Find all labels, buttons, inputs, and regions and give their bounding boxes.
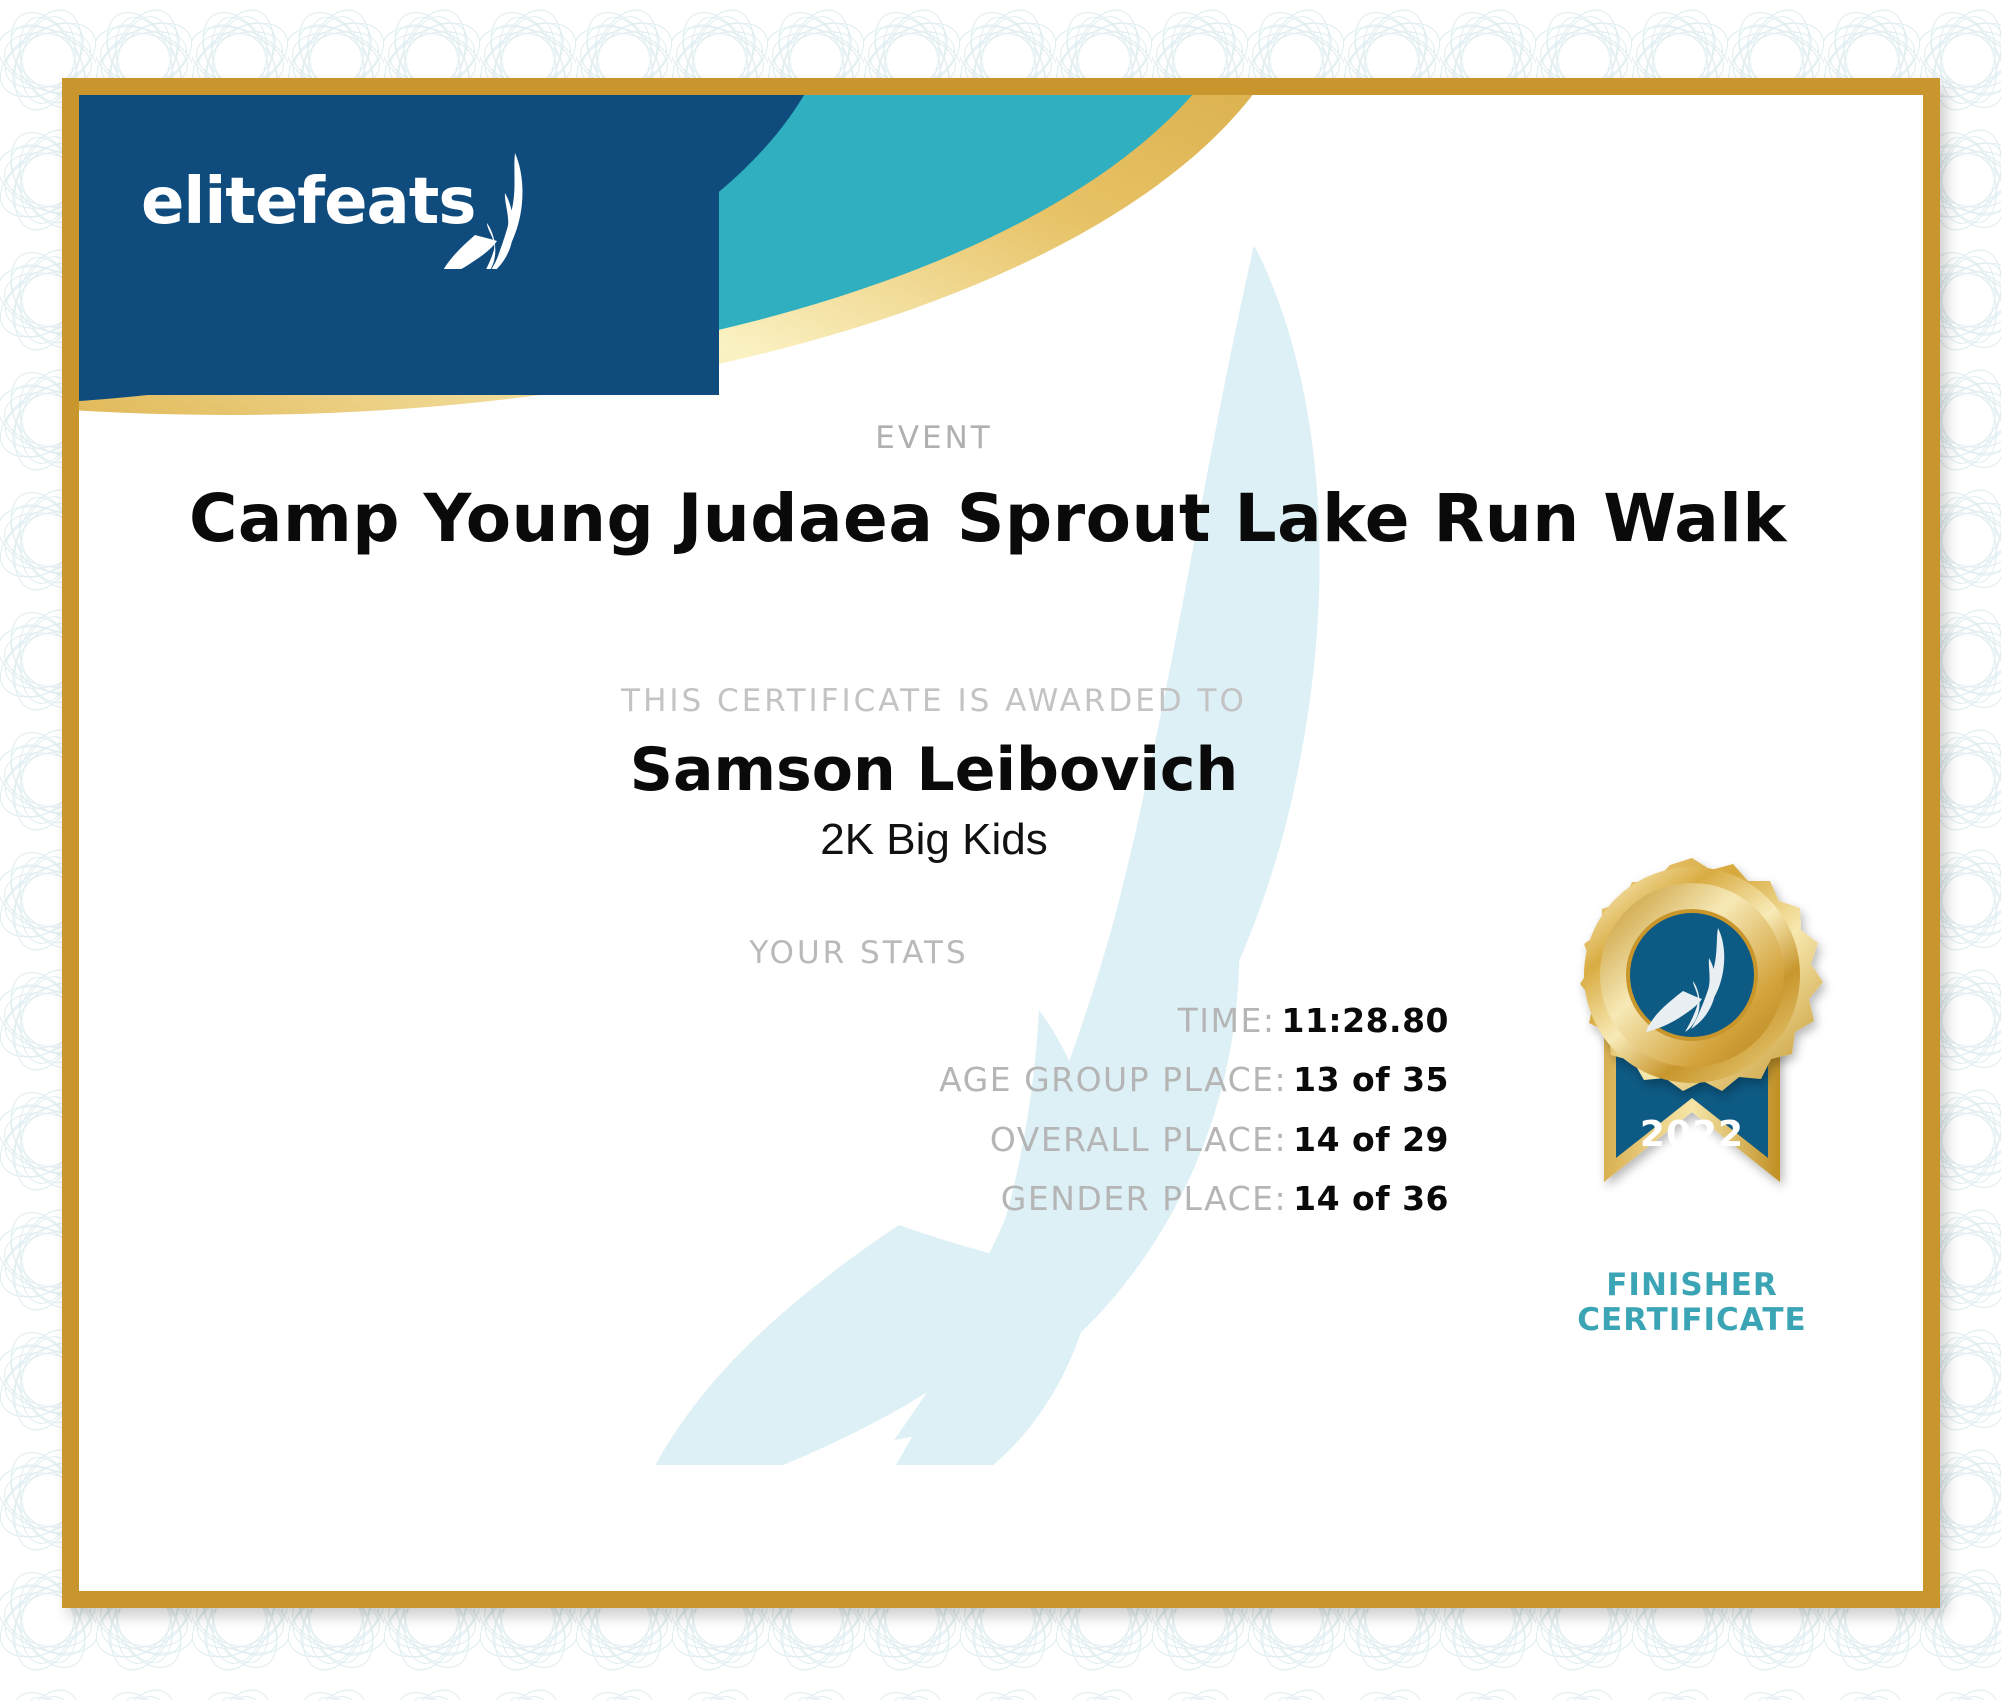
- badge-caption-line1: FINISHER: [1532, 1268, 1852, 1303]
- stat-label: OVERALL PLACE:: [990, 1120, 1287, 1159]
- event-label: EVENT: [209, 420, 1659, 456]
- medal-ribbon-icon: 2022: [1542, 850, 1842, 1290]
- stat-row-overall-place: OVERALL PLACE:14 of 29: [339, 1119, 1449, 1160]
- badge-year: 2022: [1640, 1114, 1744, 1155]
- event-title: Camp Young Judaea Sprout Lake Run Walk: [189, 480, 1679, 557]
- stat-row-gender-place: GENDER PLACE:14 of 36: [339, 1178, 1449, 1219]
- stats-heading: YOUR STATS: [209, 935, 1509, 971]
- badge-caption: FINISHER CERTIFICATE: [1532, 1268, 1852, 1337]
- stat-value: 13 of 35: [1293, 1060, 1449, 1099]
- stat-value: 14 of 36: [1293, 1179, 1449, 1218]
- brand-wordmark: elitefeats: [141, 165, 475, 239]
- stat-label: TIME:: [1178, 1001, 1276, 1040]
- certificate-frame: elitefeats EVENT Camp Young Judaea Sprou…: [62, 78, 1940, 1608]
- awarded-to-label: THIS CERTIFICATE IS AWARDED TO: [209, 683, 1659, 719]
- stat-row-age-group-place: AGE GROUP PLACE:13 of 35: [339, 1059, 1449, 1100]
- stat-row-time: TIME:11:28.80: [339, 1000, 1449, 1041]
- stat-label: AGE GROUP PLACE:: [939, 1060, 1287, 1099]
- recipient-division: 2K Big Kids: [209, 815, 1659, 865]
- certificate-content: EVENT Camp Young Judaea Sprout Lake Run …: [79, 95, 1923, 1591]
- recipient-name: Samson Leibovich: [209, 735, 1659, 805]
- stat-label: GENDER PLACE:: [1001, 1179, 1287, 1218]
- stat-value: 14 of 29: [1293, 1120, 1449, 1159]
- certificate-sheet: elitefeats EVENT Camp Young Judaea Sprou…: [79, 95, 1923, 1591]
- stat-value: 11:28.80: [1281, 1001, 1449, 1040]
- finisher-badge: 2022 FINISHER CERTIFICATE: [1542, 850, 1842, 1410]
- brand-logo: elitefeats: [141, 155, 561, 275]
- winged-foot-icon: [441, 149, 551, 269]
- stats-list: TIME:11:28.80 AGE GROUP PLACE:13 of 35 O…: [339, 1000, 1449, 1237]
- badge-caption-line2: CERTIFICATE: [1532, 1303, 1852, 1338]
